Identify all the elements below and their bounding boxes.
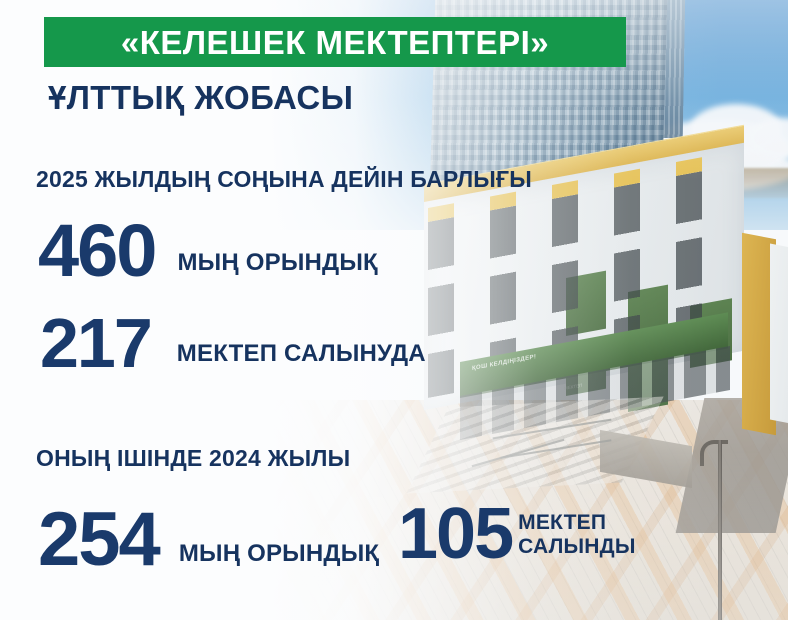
poster-content: «КЕЛЕШЕК МЕКТЕПТЕРІ» ҰЛТТЫҚ ЖОБАСЫ 2025 … — [0, 0, 788, 620]
poster-subtitle: ҰЛТТЫҚ ЖОБАСЫ — [48, 80, 353, 116]
stat-label: МЫҢ ОРЫНДЫҚ — [177, 249, 377, 277]
stat-label: МЕКТЕПСАЛЫНДЫ — [518, 511, 635, 558]
stat-value: 105 — [398, 503, 512, 566]
stat-label-line2: САЛЫНДЫ — [518, 535, 635, 558]
stat-label: МЫҢ ОРЫНДЫҚ — [179, 540, 379, 568]
stat-217: 217 МЕКТЕП САЛЫНУДА — [40, 313, 426, 375]
infographic-poster: ҚОШ КЕЛДІҢІЗДЕР! МЕКТЕП «КЕЛЕШЕК МЕКТЕПТ… — [0, 0, 788, 620]
stat-label: МЕКТЕП САЛЫНУДА — [177, 340, 426, 368]
stat-460: 460 МЫҢ ОРЫНДЫҚ — [38, 218, 378, 283]
banner-title-bar: «КЕЛЕШЕК МЕКТЕПТЕРІ» — [44, 17, 626, 67]
stat-value: 254 — [38, 507, 159, 574]
stat-value: 217 — [40, 313, 151, 375]
stat-254: 254 МЫҢ ОРЫНДЫҚ — [38, 507, 379, 574]
section-kicker-2025: 2025 ЖЫЛДЫҢ СОҢЫНА ДЕЙІН БАРЛЫҒЫ — [36, 166, 532, 193]
banner-title: «КЕЛЕШЕК МЕКТЕПТЕРІ» — [121, 26, 549, 59]
section-kicker-2024: ОНЫҢ ІШІНДЕ 2024 ЖЫЛЫ — [36, 445, 350, 472]
stat-value: 460 — [38, 218, 155, 283]
stat-label-line1: МЕКТЕП — [518, 511, 606, 534]
stat-105: 105 МЕКТЕПСАЛЫНДЫ — [398, 503, 636, 566]
